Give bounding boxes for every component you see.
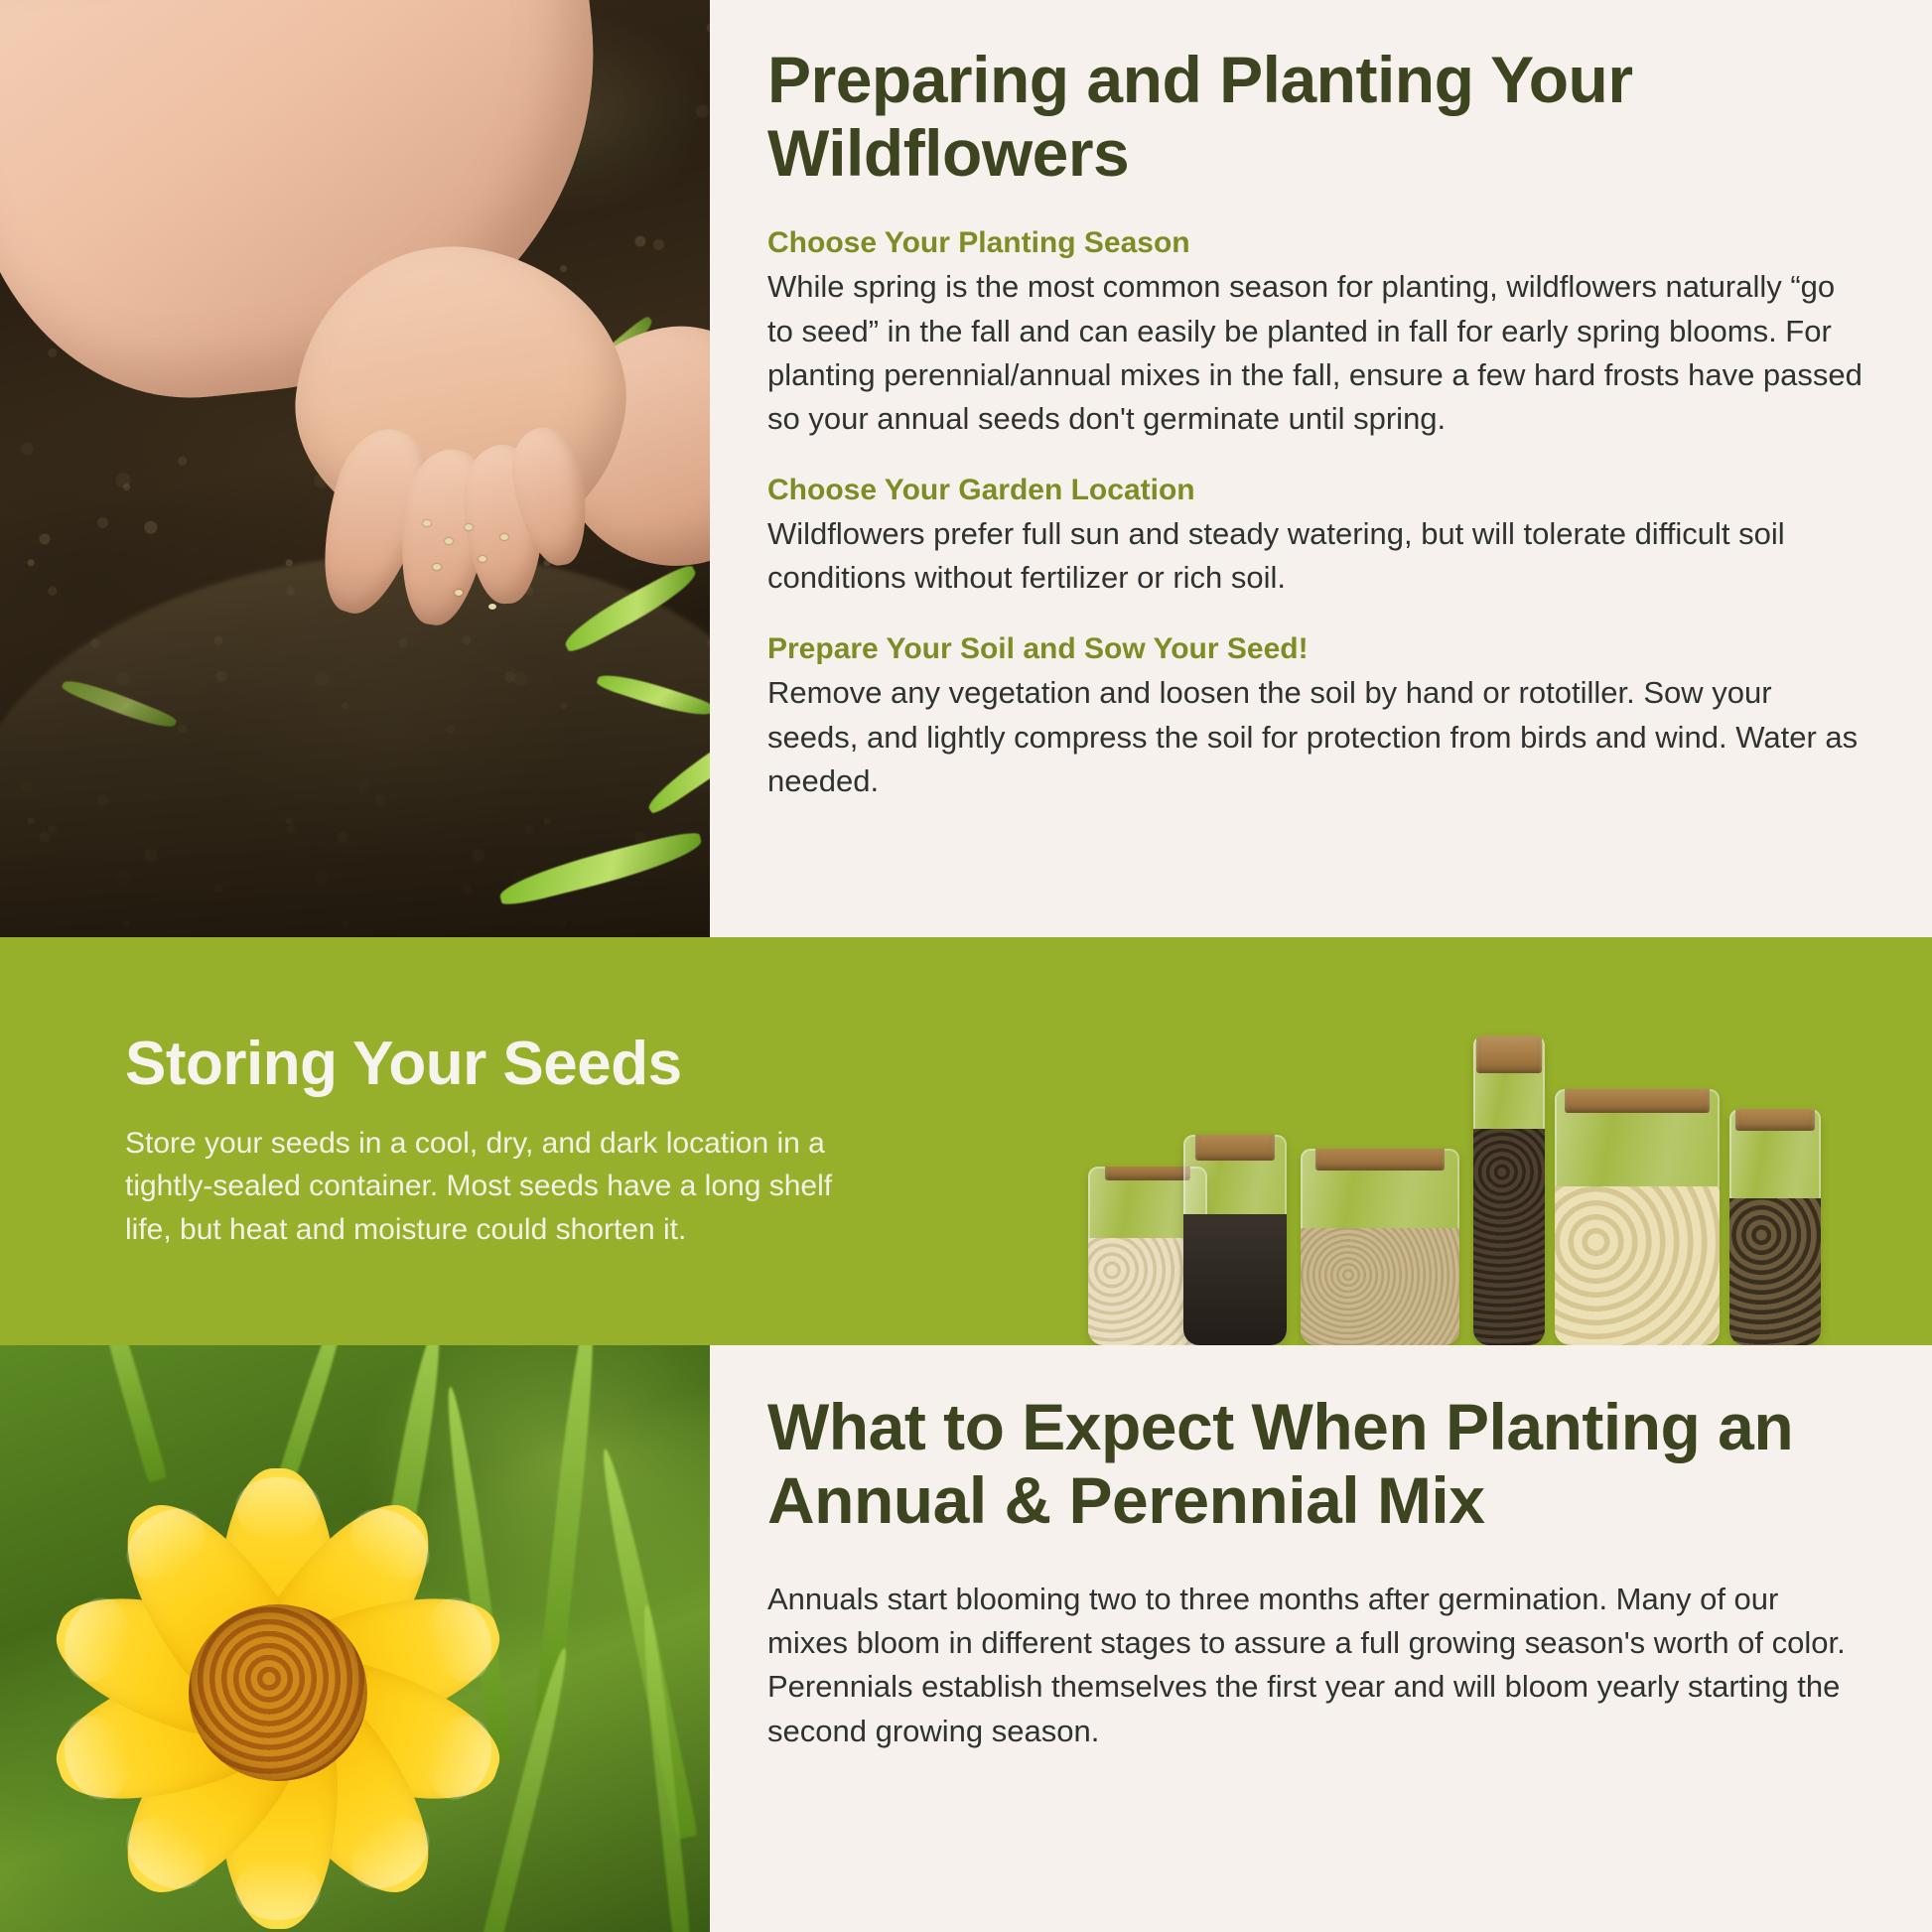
yellow-coreopsis-flower-photo — [0, 1345, 710, 1932]
cork-icon — [1565, 1089, 1710, 1113]
cork-icon — [1105, 1167, 1190, 1180]
cork-icon — [1476, 1035, 1542, 1073]
cork-icon — [1735, 1109, 1815, 1131]
hand-sowing-seeds-in-soil-photo — [0, 0, 710, 937]
subheading-choose-your-planting-season: Choose Your Planting Season — [767, 224, 1863, 262]
green-band-text: Storing Your Seeds Store your seeds in a… — [0, 1032, 874, 1252]
body-prepare-your-soil-and-sow-your-seed: Remove any vegetation and loosen the soi… — [767, 671, 1863, 803]
top-text-column: Preparing and Planting Your Wildflowers … — [710, 0, 1932, 937]
jar-contents — [1473, 1129, 1545, 1345]
block-garden-location: Choose Your Garden Location Wildflowers … — [767, 472, 1863, 601]
jar-black-seeds — [1183, 1135, 1287, 1345]
section-storing-your-seeds: Storing Your Seeds Store your seeds in a… — [0, 937, 1932, 1345]
block-prepare-soil: Prepare Your Soil and Sow Your Seed! Rem… — [767, 630, 1863, 803]
section-what-to-expect: What to Expect When Planting an Annual &… — [0, 1345, 1932, 1932]
flower-center — [189, 1604, 367, 1781]
jar-contents — [1183, 1214, 1287, 1345]
infographic-page: Preparing and Planting Your Wildflowers … — [0, 0, 1932, 1932]
jar-contents — [1301, 1228, 1459, 1345]
section-preparing-and-planting: Preparing and Planting Your Wildflowers … — [0, 0, 1932, 937]
cork-icon — [1315, 1149, 1445, 1171]
body-choose-your-planting-season: While spring is the most common season f… — [767, 265, 1863, 441]
body-choose-your-garden-location: Wildflowers prefer full sun and steady w… — [767, 512, 1863, 601]
jar-mixed-seeds — [1729, 1109, 1821, 1345]
bottom-text-column: What to Expect When Planting an Annual &… — [710, 1345, 1932, 1932]
jar-sand-seeds — [1301, 1149, 1459, 1345]
body-storing-your-seeds: Store your seeds in a cool, dry, and dar… — [125, 1122, 874, 1252]
jar-contents — [1555, 1186, 1720, 1345]
falling-seeds — [417, 516, 566, 635]
jar-pumpkin-seeds — [1555, 1089, 1720, 1345]
jar-tall-dark — [1473, 1035, 1545, 1345]
body-what-to-expect: Annuals start blooming two to three mont… — [767, 1578, 1861, 1753]
heading-what-to-expect: What to Expect When Planting an Annual &… — [767, 1391, 1861, 1538]
cork-icon — [1195, 1135, 1275, 1161]
heading-storing-your-seeds: Storing Your Seeds — [125, 1032, 874, 1096]
jar-contents — [1729, 1198, 1821, 1345]
block-planting-season: Choose Your Planting Season While spring… — [767, 224, 1863, 442]
page-title: Preparing and Planting Your Wildflowers — [767, 44, 1863, 191]
coreopsis-flower — [20, 1464, 536, 1921]
subheading-choose-your-garden-location: Choose Your Garden Location — [767, 472, 1863, 509]
subheading-prepare-your-soil-and-sow-your-seed: Prepare Your Soil and Sow Your Seed! — [767, 630, 1863, 668]
glass-seed-storage-jars-photo — [1088, 1008, 1803, 1345]
